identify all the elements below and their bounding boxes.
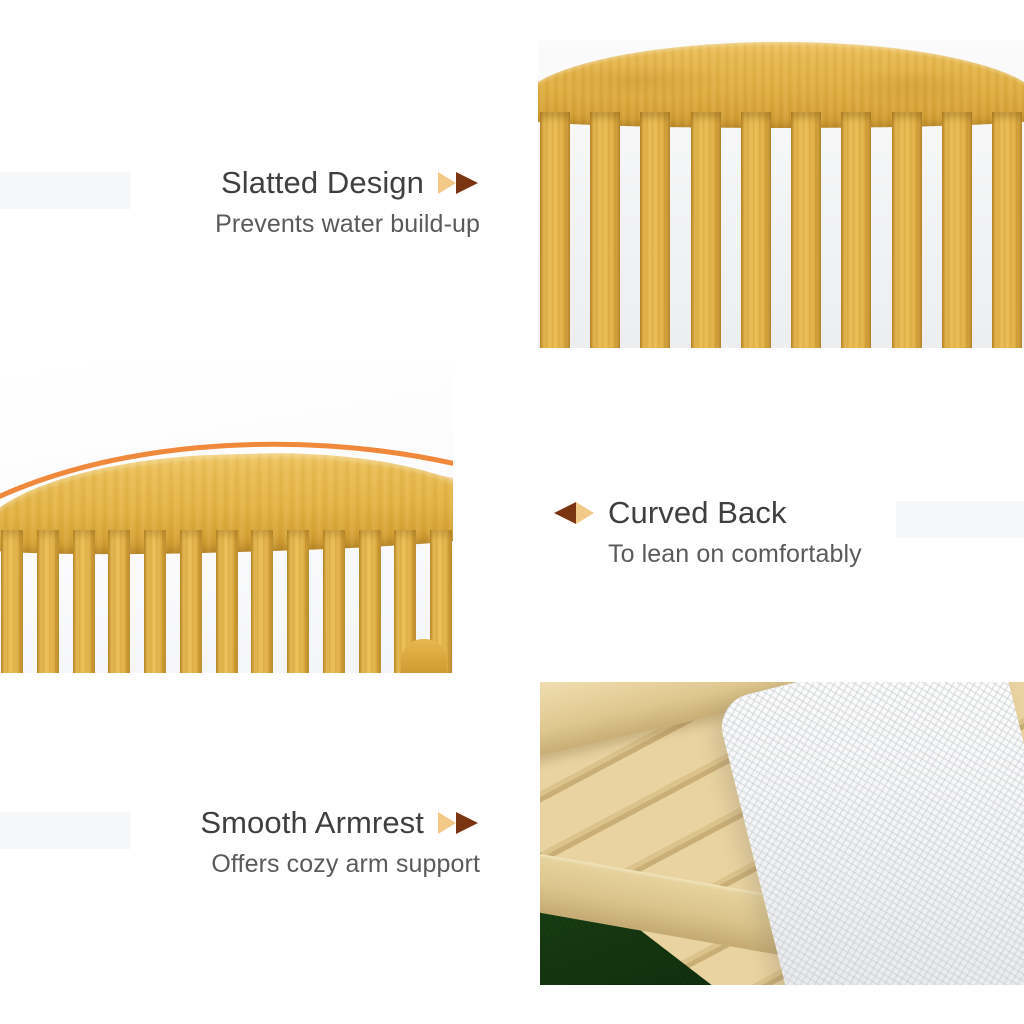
double-chevron-left-icon xyxy=(552,500,596,526)
bench-slat xyxy=(359,530,381,673)
curved-bench-back-photo xyxy=(0,362,453,673)
feature-heading-row: Slatted Design xyxy=(221,166,480,200)
bench-slat xyxy=(590,112,620,348)
feature-heading-row: Curved Back xyxy=(552,496,787,530)
product-feature-infographic: Slatted Design Prevents water build-up C… xyxy=(0,0,1024,1024)
bench-armrest-knob xyxy=(401,639,447,673)
bench-slat xyxy=(892,112,922,348)
slatted-bench-back-photo xyxy=(538,40,1024,348)
feature-block-slatted-design: Slatted Design Prevents water build-up xyxy=(60,166,480,239)
bench-slat xyxy=(73,530,95,673)
double-chevron-right-icon xyxy=(436,810,480,836)
bench-slats-group xyxy=(538,112,1024,348)
bench-slat xyxy=(37,530,59,673)
bench-slat xyxy=(791,112,821,348)
bench-slat xyxy=(216,530,238,673)
bench-slat xyxy=(144,530,166,673)
bench-slat xyxy=(251,530,273,673)
feature-block-smooth-armrest: Smooth Armrest Offers cozy arm support xyxy=(60,806,480,879)
feature-heading-row: Smooth Armrest xyxy=(200,806,480,840)
feature-subheading: To lean on comfortably xyxy=(552,540,862,569)
feature-heading: Curved Back xyxy=(608,496,787,530)
bench-slat xyxy=(180,530,202,673)
bench-slat xyxy=(1,530,23,673)
bench-slat xyxy=(942,112,972,348)
bench-slat xyxy=(841,112,871,348)
feature-heading: Smooth Armrest xyxy=(200,806,424,840)
feature-subheading: Offers cozy arm support xyxy=(211,850,480,879)
feature-subheading: Prevents water build-up xyxy=(215,210,480,239)
bench-slat xyxy=(741,112,771,348)
feature-block-curved-back: Curved Back To lean on comfortably xyxy=(552,496,972,569)
bench-slat xyxy=(540,112,570,348)
armrest-closeup-photo xyxy=(540,682,1024,985)
bench-slat xyxy=(108,530,130,673)
bench-slat xyxy=(323,530,345,673)
bench-slat xyxy=(640,112,670,348)
double-chevron-right-icon xyxy=(436,170,480,196)
bench-slats-group xyxy=(0,530,453,673)
bench-slat xyxy=(691,112,721,348)
bench-slat xyxy=(287,530,309,673)
bench-slat xyxy=(992,112,1022,348)
feature-heading: Slatted Design xyxy=(221,166,424,200)
